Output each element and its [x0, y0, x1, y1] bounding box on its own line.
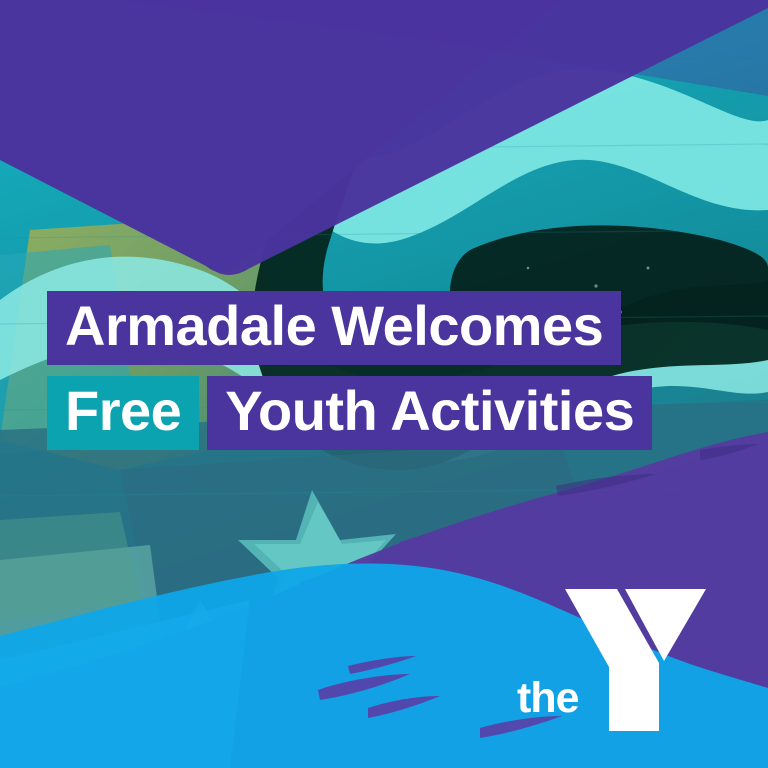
headline-line-2: Free Youth Activities	[47, 376, 747, 450]
headline-line-1-band: Armadale Welcomes	[47, 291, 621, 365]
headline: Armadale Welcomes Free Youth Activities	[47, 291, 747, 450]
logo-y-icon	[563, 585, 708, 735]
headline-highlight-free: Free	[47, 376, 199, 450]
poster-canvas: Armadale Welcomes Free Youth Activities …	[0, 0, 768, 768]
headline-line-2-band: Youth Activities	[207, 376, 652, 450]
headline-line-1: Armadale Welcomes	[47, 291, 747, 365]
headline-band-gap	[199, 376, 207, 450]
the-y-logo: the	[508, 585, 708, 735]
